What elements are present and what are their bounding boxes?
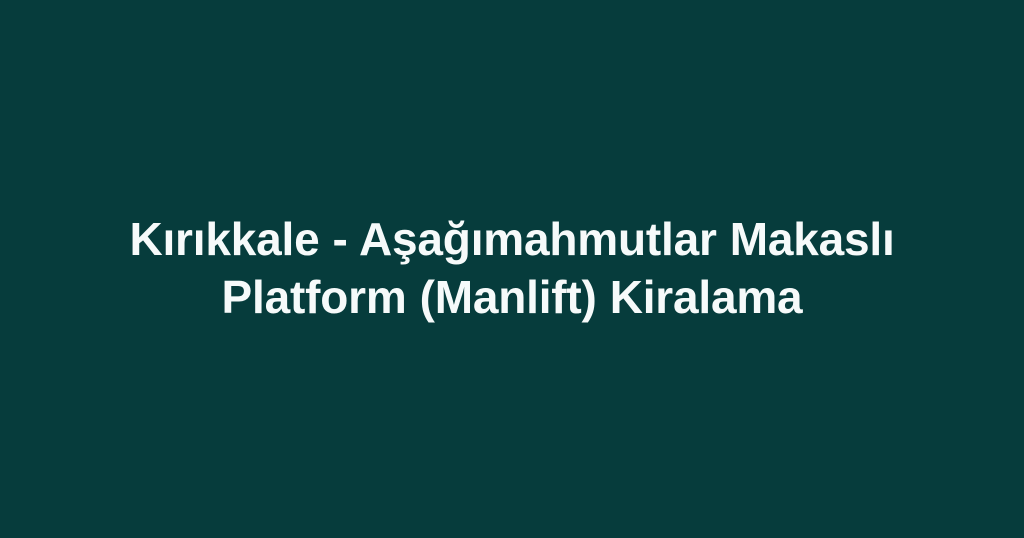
page-title-line-1: Kırıkkale - Aşağımahmutlar Makaslı xyxy=(129,213,894,265)
page-title: Kırıkkale - Aşağımahmutlar MakaslıPlatfo… xyxy=(109,210,915,326)
share-card: Kırıkkale - Aşağımahmutlar MakaslıPlatfo… xyxy=(0,0,1024,538)
headline-block: Kırıkkale - Aşağımahmutlar MakaslıPlatfo… xyxy=(97,210,927,326)
page-title-line-2: Platform (Manlift) Kiralama xyxy=(222,271,803,323)
